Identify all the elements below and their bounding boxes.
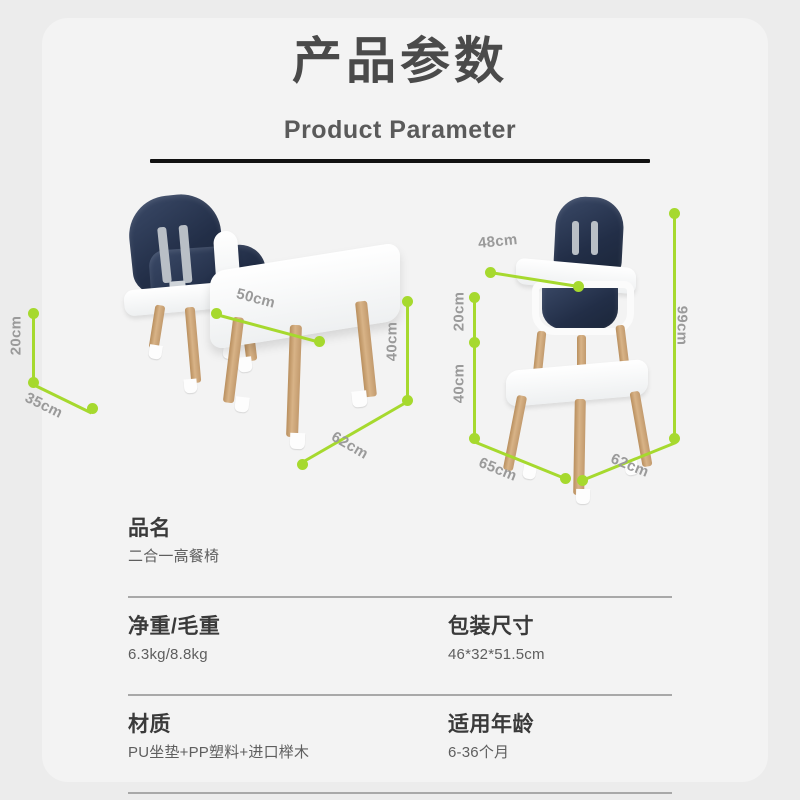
spec-row-3: 材质 PU坐垫+PP塑料+进口榉木 适用年龄 6-36个月 bbox=[128, 696, 672, 792]
highchair-strap-left bbox=[572, 221, 579, 255]
spec-label: 材质 bbox=[128, 712, 309, 738]
spec-row-1: 品名 二合一高餐椅 bbox=[128, 500, 672, 596]
measure-label-48cm: 48cm bbox=[477, 231, 518, 252]
measure-dot-62cm-right-end bbox=[577, 475, 588, 486]
spec-row-2: 净重/毛重 6.3kg/8.8kg 包装尺寸 46*32*51.5cm bbox=[128, 598, 672, 694]
product-parameter-page: 产品参数 Product Parameter bbox=[0, 0, 800, 800]
measure-dot-50cm-left bbox=[211, 308, 222, 319]
measure-dot-20cm-top bbox=[28, 308, 39, 319]
measure-line-40cm bbox=[406, 301, 409, 401]
measure-dot-40cm-top bbox=[402, 296, 413, 307]
page-title-cn: 产品参数 bbox=[0, 36, 800, 86]
table-leg-front-left bbox=[286, 325, 302, 437]
measure-label-20cm-right: 20cm bbox=[450, 292, 467, 332]
chair-leg-cap-4 bbox=[237, 356, 253, 373]
measure-dot-65cm-end bbox=[560, 473, 571, 484]
measure-line-20cm bbox=[32, 313, 35, 383]
table-leg-cap-3 bbox=[351, 390, 368, 407]
spec-cell-weight: 净重/毛重 6.3kg/8.8kg bbox=[128, 614, 220, 667]
measure-dot-48cm-right bbox=[573, 281, 584, 292]
measure-dot-62cm-end bbox=[297, 459, 308, 470]
spec-cell-material: 材质 PU坐垫+PP塑料+进口榉木 bbox=[128, 712, 309, 765]
spec-value: 6-36个月 bbox=[448, 741, 534, 765]
spec-table: 品名 二合一高餐椅 净重/毛重 6.3kg/8.8kg 包装尺寸 46*32*5… bbox=[128, 500, 672, 794]
spec-value: PU坐垫+PP塑料+进口榉木 bbox=[128, 741, 309, 765]
illustration-right: 48cm 20cm 40cm 99cm 65cm 62cm bbox=[440, 185, 800, 505]
page-title-en: Product Parameter bbox=[0, 118, 800, 143]
measure-label-40cm: 40cm bbox=[383, 322, 400, 362]
measure-label-40cm-right: 40cm bbox=[450, 364, 467, 404]
chair-leg-back-left bbox=[185, 307, 202, 384]
spec-value: 二合一高餐椅 bbox=[128, 545, 219, 569]
measure-label-35cm: 35cm bbox=[22, 389, 65, 422]
spec-cell-age-range: 适用年龄 6-36个月 bbox=[448, 712, 534, 765]
measure-dot-50cm-right bbox=[314, 336, 325, 347]
measure-label-20cm: 20cm bbox=[7, 316, 24, 356]
highchair-strap-right bbox=[591, 221, 598, 255]
spec-cell-package-size: 包装尺寸 46*32*51.5cm bbox=[448, 614, 545, 667]
measure-label-99cm: 99cm bbox=[673, 306, 690, 346]
spec-value: 6.3kg/8.8kg bbox=[128, 643, 220, 667]
measure-dot-20cm-right-top bbox=[469, 292, 480, 303]
illustrations: 20cm 35cm 50cm 40cm 62cm bbox=[0, 185, 800, 505]
spec-label: 包装尺寸 bbox=[448, 614, 545, 640]
measure-dot-35cm-end bbox=[87, 403, 98, 414]
illustration-left: 20cm 35cm 50cm 40cm 62cm bbox=[0, 185, 440, 505]
measure-dot-48cm-left bbox=[485, 267, 496, 278]
measure-dot-99cm-top bbox=[669, 208, 680, 219]
spec-divider-3 bbox=[128, 792, 672, 794]
table-leg-cap-2 bbox=[290, 433, 306, 450]
chair-leg-cap-1 bbox=[148, 344, 163, 360]
header-rule bbox=[150, 159, 650, 163]
spec-cell-product-name: 品名 二合一高餐椅 bbox=[128, 516, 219, 569]
spec-label: 适用年龄 bbox=[448, 712, 534, 738]
chair-leg-cap-2 bbox=[183, 378, 197, 393]
measure-line-40cm-right bbox=[473, 343, 476, 439]
spec-label: 品名 bbox=[128, 516, 219, 542]
spec-value: 46*32*51.5cm bbox=[448, 643, 545, 667]
table-leg-cap-1 bbox=[234, 396, 250, 413]
spec-label: 净重/毛重 bbox=[128, 614, 220, 640]
